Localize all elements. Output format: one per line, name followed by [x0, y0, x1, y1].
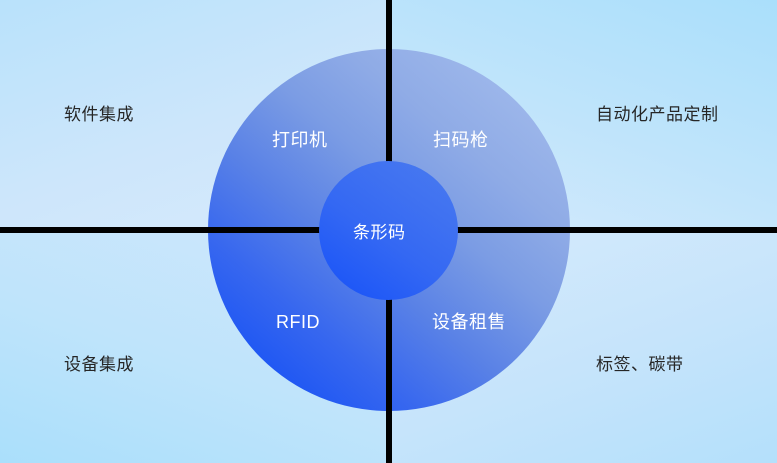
- ring-label-rfid: RFID: [276, 313, 320, 331]
- ring-label-printer: 打印机: [272, 131, 328, 149]
- corner-label-equipment-integration: 设备集成: [64, 356, 134, 373]
- ring-label-scanner: 扫码枪: [433, 131, 489, 149]
- corner-label-automation-custom: 自动化产品定制: [596, 106, 719, 123]
- corner-label-labels-ribbons: 标签、碳带: [596, 356, 684, 373]
- ring-label-equipment-rental: 设备租售: [432, 313, 506, 331]
- center-label-barcode: 条形码: [353, 224, 406, 241]
- corner-label-software-integration: 软件集成: [64, 106, 134, 123]
- infographic-canvas: 软件集成 自动化产品定制 设备集成 标签、碳带 打印机 扫码枪 RFID 设备租…: [0, 0, 777, 463]
